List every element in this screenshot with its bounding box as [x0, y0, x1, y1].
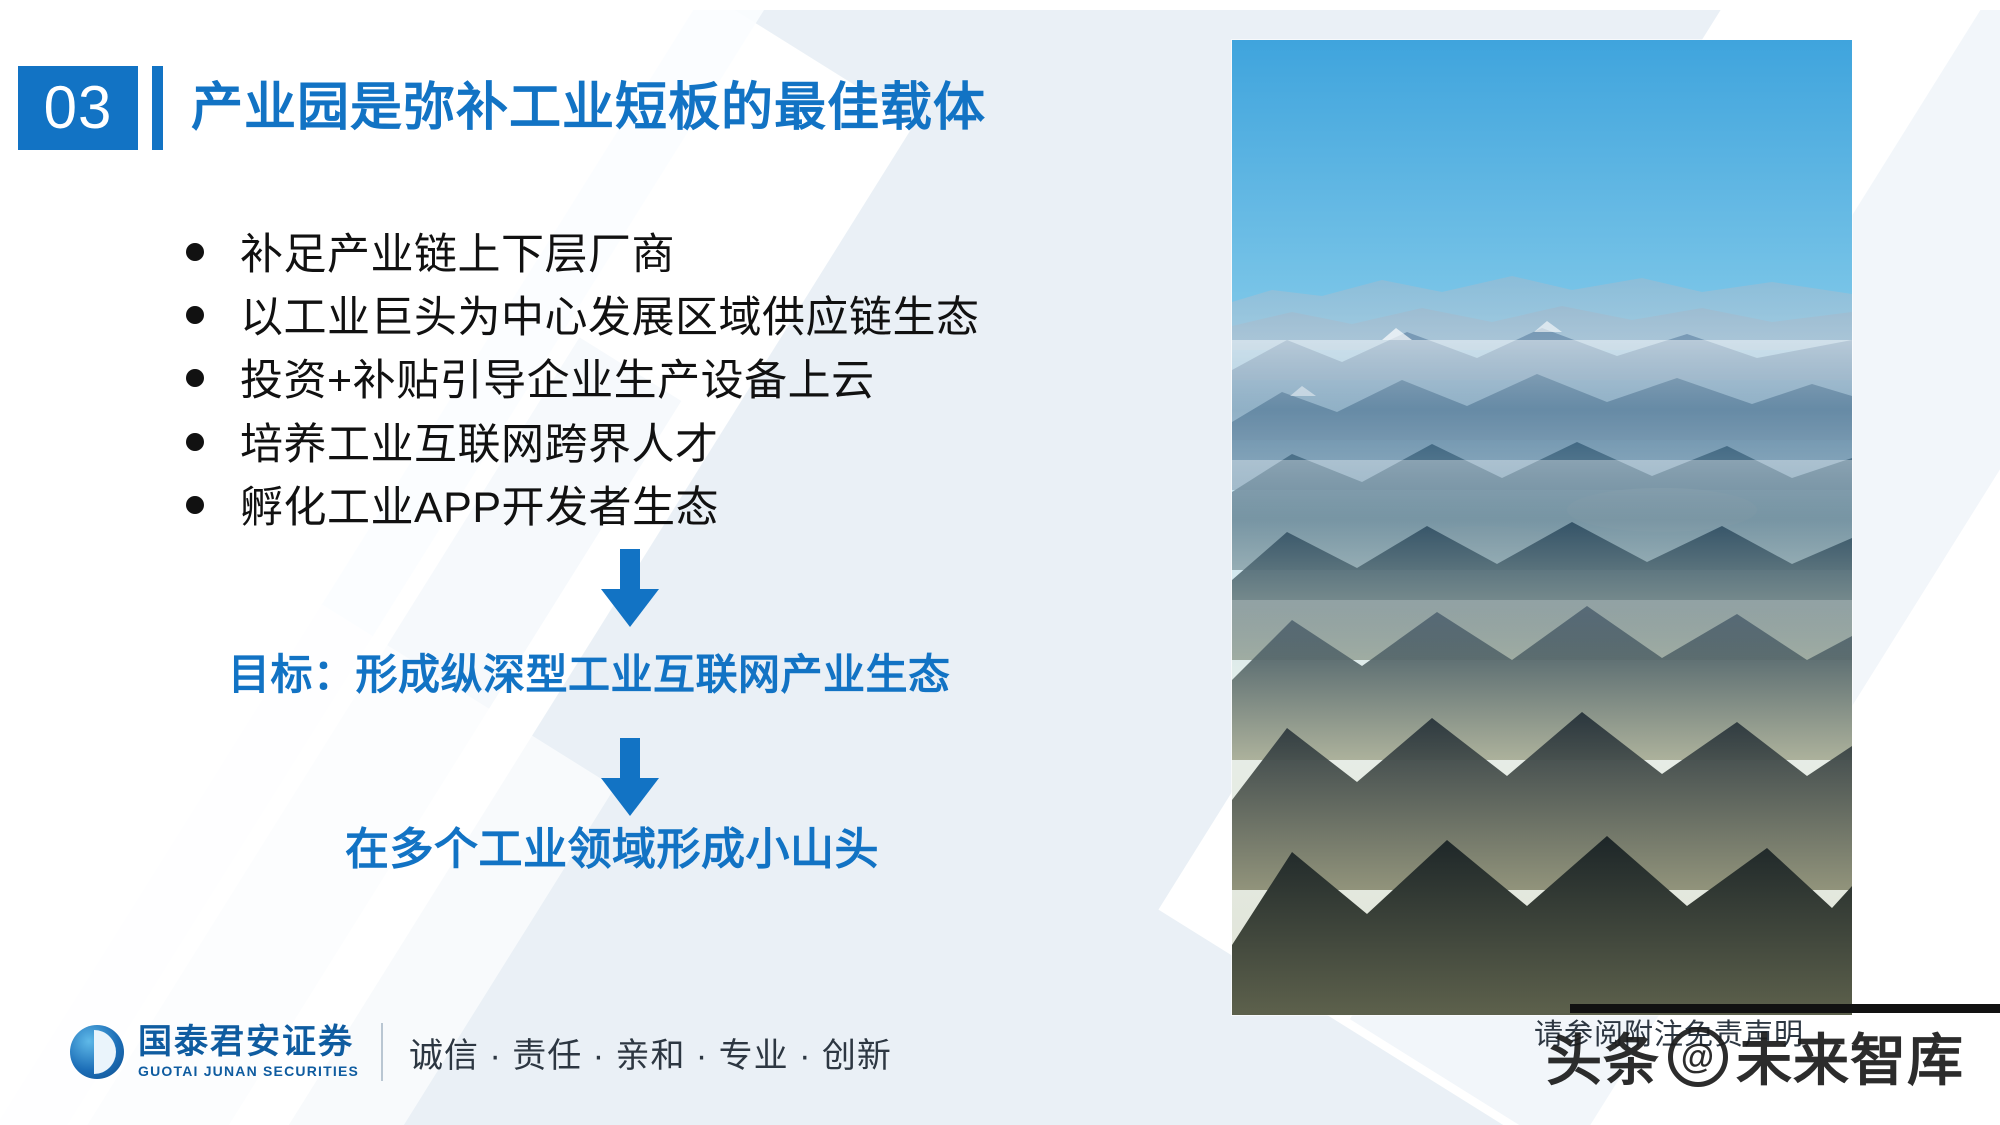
- list-item: 投资+补贴引导企业生产设备上云: [186, 354, 1146, 408]
- at-sign-icon: @: [1668, 1027, 1728, 1087]
- watermark-bar: [1570, 1004, 2000, 1013]
- bullet-dot-icon: [186, 433, 204, 451]
- brand-name-cn: 国泰君安证券: [138, 1025, 359, 1061]
- arrow-shaft: [620, 549, 640, 593]
- list-item: 孵化工业APP开发者生态: [186, 481, 1146, 535]
- presentation-slide: 03 产业园是弥补工业短板的最佳载体 补足产业链上下层厂商 以工业巨头为中心发展…: [0, 0, 2000, 1125]
- bullet-dot-icon: [186, 243, 204, 261]
- bullet-list: 补足产业链上下层厂商 以工业巨头为中心发展区域供应链生态 投资+补贴引导企业生产…: [186, 228, 1146, 544]
- watermark: 头条 @ 未来智库: [1546, 1016, 1964, 1097]
- list-item-label: 培养工业互联网跨界人才: [240, 418, 719, 472]
- slide-header: 03 产业园是弥补工业短板的最佳载体: [18, 66, 986, 150]
- brand-wordmark: 国泰君安证券 GUOTAI JUNAN SECURITIES: [138, 1025, 359, 1079]
- list-item-label: 以工业巨头为中心发展区域供应链生态: [240, 291, 980, 345]
- photo-artwork: [1232, 40, 1852, 1015]
- goal-statement-secondary: 在多个工业领域形成小山头: [345, 828, 879, 872]
- goal-statement-primary: 目标：形成纵深型工业互联网产业生态: [228, 654, 951, 696]
- footer-divider: [381, 1023, 383, 1081]
- watermark-source: 头条: [1546, 1016, 1660, 1097]
- list-item-label: 投资+补贴引导企业生产设备上云: [240, 354, 875, 408]
- bg-wedge-middle: [0, 0, 968, 1125]
- bg-top-strip: [0, 0, 2000, 10]
- bullet-dot-icon: [186, 496, 204, 514]
- list-item: 培养工业互联网跨界人才: [186, 418, 1146, 472]
- watermark-account: 未来智库: [1736, 1016, 1964, 1097]
- bg-wedge-left: [0, 0, 915, 1125]
- list-item-label: 孵化工业APP开发者生态: [240, 481, 719, 535]
- bullet-dot-icon: [186, 306, 204, 324]
- list-item: 以工业巨头为中心发展区域供应链生态: [186, 291, 1146, 345]
- list-item-label: 补足产业链上下层厂商: [240, 228, 675, 282]
- page-title: 产业园是弥补工业短板的最佳载体: [191, 82, 986, 134]
- arrow-head: [601, 589, 659, 627]
- mountain-range-photo: [1232, 40, 1852, 1015]
- guotai-junan-logo-icon: [70, 1025, 124, 1079]
- bullet-dot-icon: [186, 369, 204, 387]
- brand-name-en: GUOTAI JUNAN SECURITIES: [138, 1063, 359, 1079]
- section-number-badge: 03: [18, 66, 138, 150]
- title-accent-bar: [152, 66, 163, 150]
- arrow-head: [601, 778, 659, 816]
- brand-slogan: 诚信 · 责任 · 亲和 · 专业 · 创新: [409, 1028, 892, 1077]
- arrow-shaft: [620, 738, 640, 782]
- down-arrow-icon: [601, 549, 659, 625]
- footer-brand: 国泰君安证券 GUOTAI JUNAN SECURITIES 诚信 · 责任 ·…: [70, 1023, 892, 1081]
- list-item: 补足产业链上下层厂商: [186, 228, 1146, 282]
- down-arrow-icon: [601, 738, 659, 814]
